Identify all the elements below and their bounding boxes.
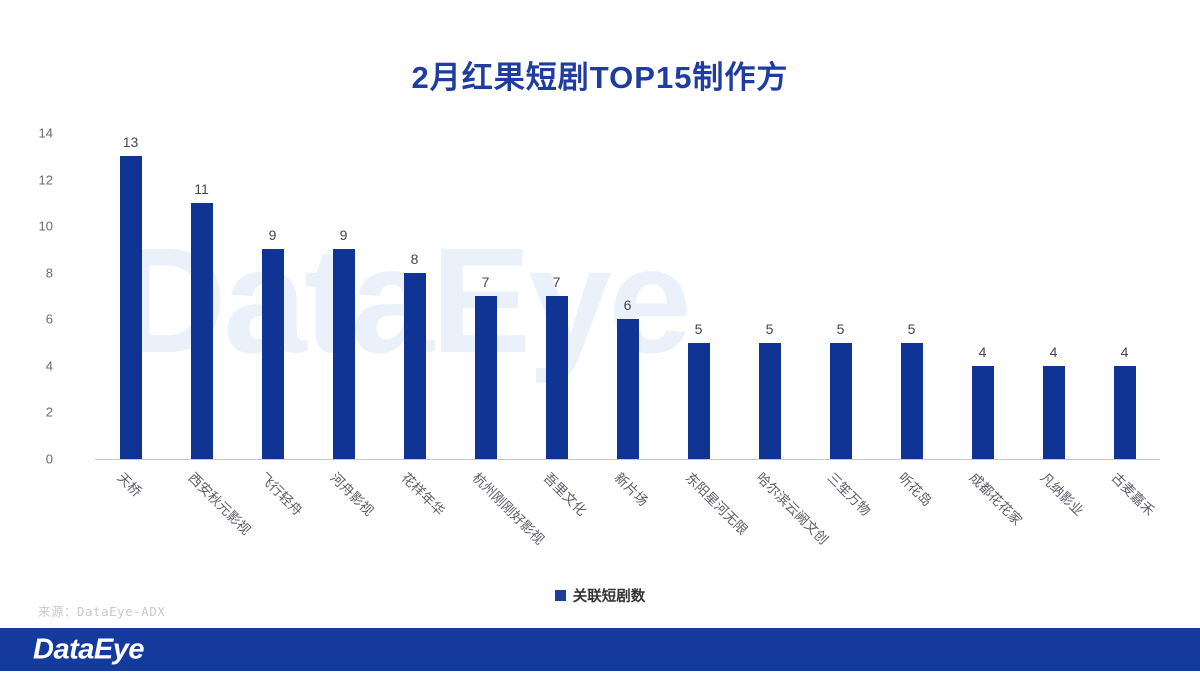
bar-value-label: 6 — [624, 297, 632, 313]
x-axis-label-slot: 听花岛 — [876, 463, 947, 583]
bar-group: 5 — [663, 133, 734, 459]
bar-group: 7 — [450, 133, 521, 459]
x-axis-label-slot: 吾里文化 — [521, 463, 592, 583]
bar-value-label: 5 — [766, 321, 774, 337]
bar-group: 7 — [521, 133, 592, 459]
bar-group: 9 — [308, 133, 379, 459]
bar[interactable] — [688, 343, 710, 459]
x-axis-tick-label: 飞行轻舟 — [255, 467, 307, 519]
x-axis-label-slot: 天桥 — [95, 463, 166, 583]
x-axis-tick-label: 花样年华 — [397, 467, 449, 519]
y-axis-tick-label: 14 — [13, 126, 53, 141]
bar[interactable] — [546, 296, 568, 459]
x-axis-labels: 天桥西安秋元影视飞行轻舟河舟影视花样年华杭州刚刚好影视吾里文化新片场东阳星河无限… — [95, 463, 1160, 583]
x-axis-label-slot: 凡纳影业 — [1018, 463, 1089, 583]
bar[interactable] — [191, 203, 213, 459]
x-axis-label-slot: 飞行轻舟 — [237, 463, 308, 583]
bar-value-label: 5 — [695, 321, 703, 337]
bar[interactable] — [830, 343, 852, 459]
y-axis-tick-label: 6 — [13, 312, 53, 327]
legend-item-label: 关联短剧数 — [573, 585, 646, 606]
x-axis-label-slot: 成都花花家 — [947, 463, 1018, 583]
bar-value-label: 9 — [340, 227, 348, 243]
bar-value-label: 7 — [553, 274, 561, 290]
bar-value-label: 11 — [194, 181, 209, 197]
plot-area: 02468101214 13119987765555444 — [95, 133, 1160, 459]
bar[interactable] — [120, 156, 142, 459]
bar[interactable] — [759, 343, 781, 459]
y-axis-tick-label: 4 — [13, 358, 53, 373]
bar-group: 8 — [379, 133, 450, 459]
bar-series: 13119987765555444 — [95, 133, 1160, 459]
x-axis-tick-label: 吾里文化 — [539, 467, 591, 519]
x-axis-label-slot: 西安秋元影视 — [166, 463, 237, 583]
bar-value-label: 4 — [1121, 344, 1129, 360]
bar-group: 5 — [805, 133, 876, 459]
source-note: 来源：DataEye-ADX — [38, 601, 165, 620]
bar[interactable] — [475, 296, 497, 459]
footer-bar: DataEye — [0, 628, 1200, 671]
x-axis-label-slot: 河舟影视 — [308, 463, 379, 583]
y-axis-tick-label: 12 — [13, 172, 53, 187]
x-axis-label-slot: 东阳星河无限 — [663, 463, 734, 583]
bar-value-label: 4 — [1050, 344, 1058, 360]
x-axis-tick-label: 河舟影视 — [326, 467, 378, 519]
bar-value-label: 4 — [979, 344, 987, 360]
bar[interactable] — [972, 366, 994, 459]
x-axis-tick-label: 古麦嘉禾 — [1107, 467, 1159, 519]
x-axis-tick-label: 新片场 — [610, 467, 653, 510]
bar-group: 4 — [1089, 133, 1160, 459]
bar-group: 9 — [237, 133, 308, 459]
dataeye-logo: DataEye — [33, 633, 144, 666]
x-axis-tick-label: 天桥 — [113, 467, 146, 500]
legend-swatch-icon — [555, 590, 566, 601]
x-axis-label-slot: 哈尔滨云阙文创 — [734, 463, 805, 583]
y-axis-tick-label: 2 — [13, 405, 53, 420]
bar-group: 13 — [95, 133, 166, 459]
chart-page: 2月红果短剧TOP15制作方 DataEye 02468101214 13119… — [0, 0, 1200, 675]
bar-value-label: 5 — [837, 321, 845, 337]
x-axis-label-slot: 杭州刚刚好影视 — [450, 463, 521, 583]
bar[interactable] — [1043, 366, 1065, 459]
bar-value-label: 7 — [482, 274, 490, 290]
y-axis-tick-label: 10 — [13, 219, 53, 234]
bar[interactable] — [333, 249, 355, 459]
bar-value-label: 9 — [269, 227, 277, 243]
bar[interactable] — [901, 343, 923, 459]
x-axis-line — [95, 459, 1160, 460]
bar-group: 4 — [1018, 133, 1089, 459]
bar[interactable] — [404, 273, 426, 459]
bar-group: 11 — [166, 133, 237, 459]
x-axis-label-slot: 古麦嘉禾 — [1089, 463, 1160, 583]
x-axis-label-slot: 三笙万物 — [805, 463, 876, 583]
page-title: 2月红果短剧TOP15制作方 — [0, 52, 1200, 97]
bar-value-label: 13 — [123, 134, 139, 150]
x-axis-tick-label: 三笙万物 — [823, 467, 875, 519]
bar-group: 5 — [734, 133, 805, 459]
bar[interactable] — [617, 319, 639, 459]
bar-value-label: 5 — [908, 321, 916, 337]
y-axis-tick-label: 0 — [13, 452, 53, 467]
x-axis-label-slot: 新片场 — [592, 463, 663, 583]
bar-group: 4 — [947, 133, 1018, 459]
bar-group: 5 — [876, 133, 947, 459]
x-axis-label-slot: 花样年华 — [379, 463, 450, 583]
x-axis-tick-label: 凡纳影业 — [1036, 467, 1088, 519]
x-axis-tick-label: 听花岛 — [894, 467, 937, 510]
bar-group: 6 — [592, 133, 663, 459]
bar[interactable] — [262, 249, 284, 459]
bar[interactable] — [1114, 366, 1136, 459]
chart-legend: 关联短剧数 — [0, 585, 1200, 606]
bar-value-label: 8 — [411, 251, 419, 267]
y-axis-tick-label: 8 — [13, 265, 53, 280]
